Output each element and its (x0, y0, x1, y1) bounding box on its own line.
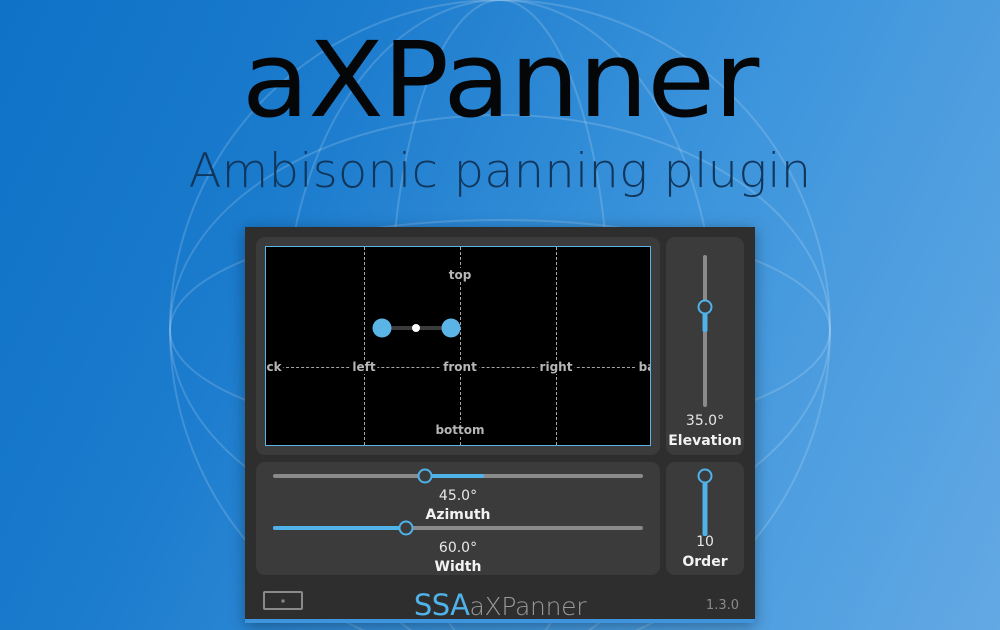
gridline-vertical-right (556, 247, 557, 445)
order-value: 10 (666, 534, 744, 550)
azimuth-value: 45.0° (256, 488, 660, 504)
elevation-slider[interactable] (697, 255, 713, 407)
order-group: 10 Order (666, 462, 744, 575)
source-handle-left[interactable] (373, 319, 392, 338)
brand-logo: SSAaXPanner (245, 588, 755, 622)
elevation-group: 35.0° Elevation (666, 237, 744, 455)
axis-label-top: top (447, 268, 474, 282)
plugin-footer: SSAaXPanner 1.3.0 (245, 579, 755, 619)
source-center-dot[interactable] (412, 324, 420, 332)
order-label: Order (666, 554, 744, 570)
brand-prefix: SSA (414, 588, 470, 622)
axis-label-back-right: ba (637, 360, 651, 374)
width-value: 60.0° (256, 540, 660, 556)
elevation-thumb[interactable] (698, 300, 713, 315)
gridline-vertical-left (364, 247, 365, 445)
axis-label-left: left (350, 360, 377, 374)
width-label: Width (256, 559, 660, 575)
panner-group: top bottom ck left front right ba (256, 237, 660, 455)
slider-group: 45.0° Azimuth 60.0° Width (256, 462, 660, 575)
axis-label-back-left: ck (265, 360, 284, 374)
azimuth-label: Azimuth (256, 507, 660, 523)
version-label: 1.3.0 (706, 598, 739, 613)
panner-display[interactable]: top bottom ck left front right ba (265, 246, 651, 446)
plugin-window: top bottom ck left front right ba 35.0° … (245, 227, 755, 623)
elevation-value: 35.0° (666, 413, 744, 429)
axis-label-bottom: bottom (433, 423, 486, 437)
axis-label-front: front (441, 360, 479, 374)
azimuth-thumb[interactable] (417, 469, 432, 484)
source-handle-right[interactable] (442, 319, 461, 338)
width-thumb[interactable] (399, 521, 414, 536)
azimuth-fill (428, 474, 484, 478)
order-thumb[interactable] (698, 469, 713, 484)
order-slider[interactable] (697, 474, 713, 536)
order-fill (703, 476, 708, 536)
axis-label-right: right (538, 360, 575, 374)
width-fill (273, 526, 406, 530)
brand-product-name: aXPanner (470, 592, 587, 621)
elevation-label: Elevation (666, 433, 744, 449)
